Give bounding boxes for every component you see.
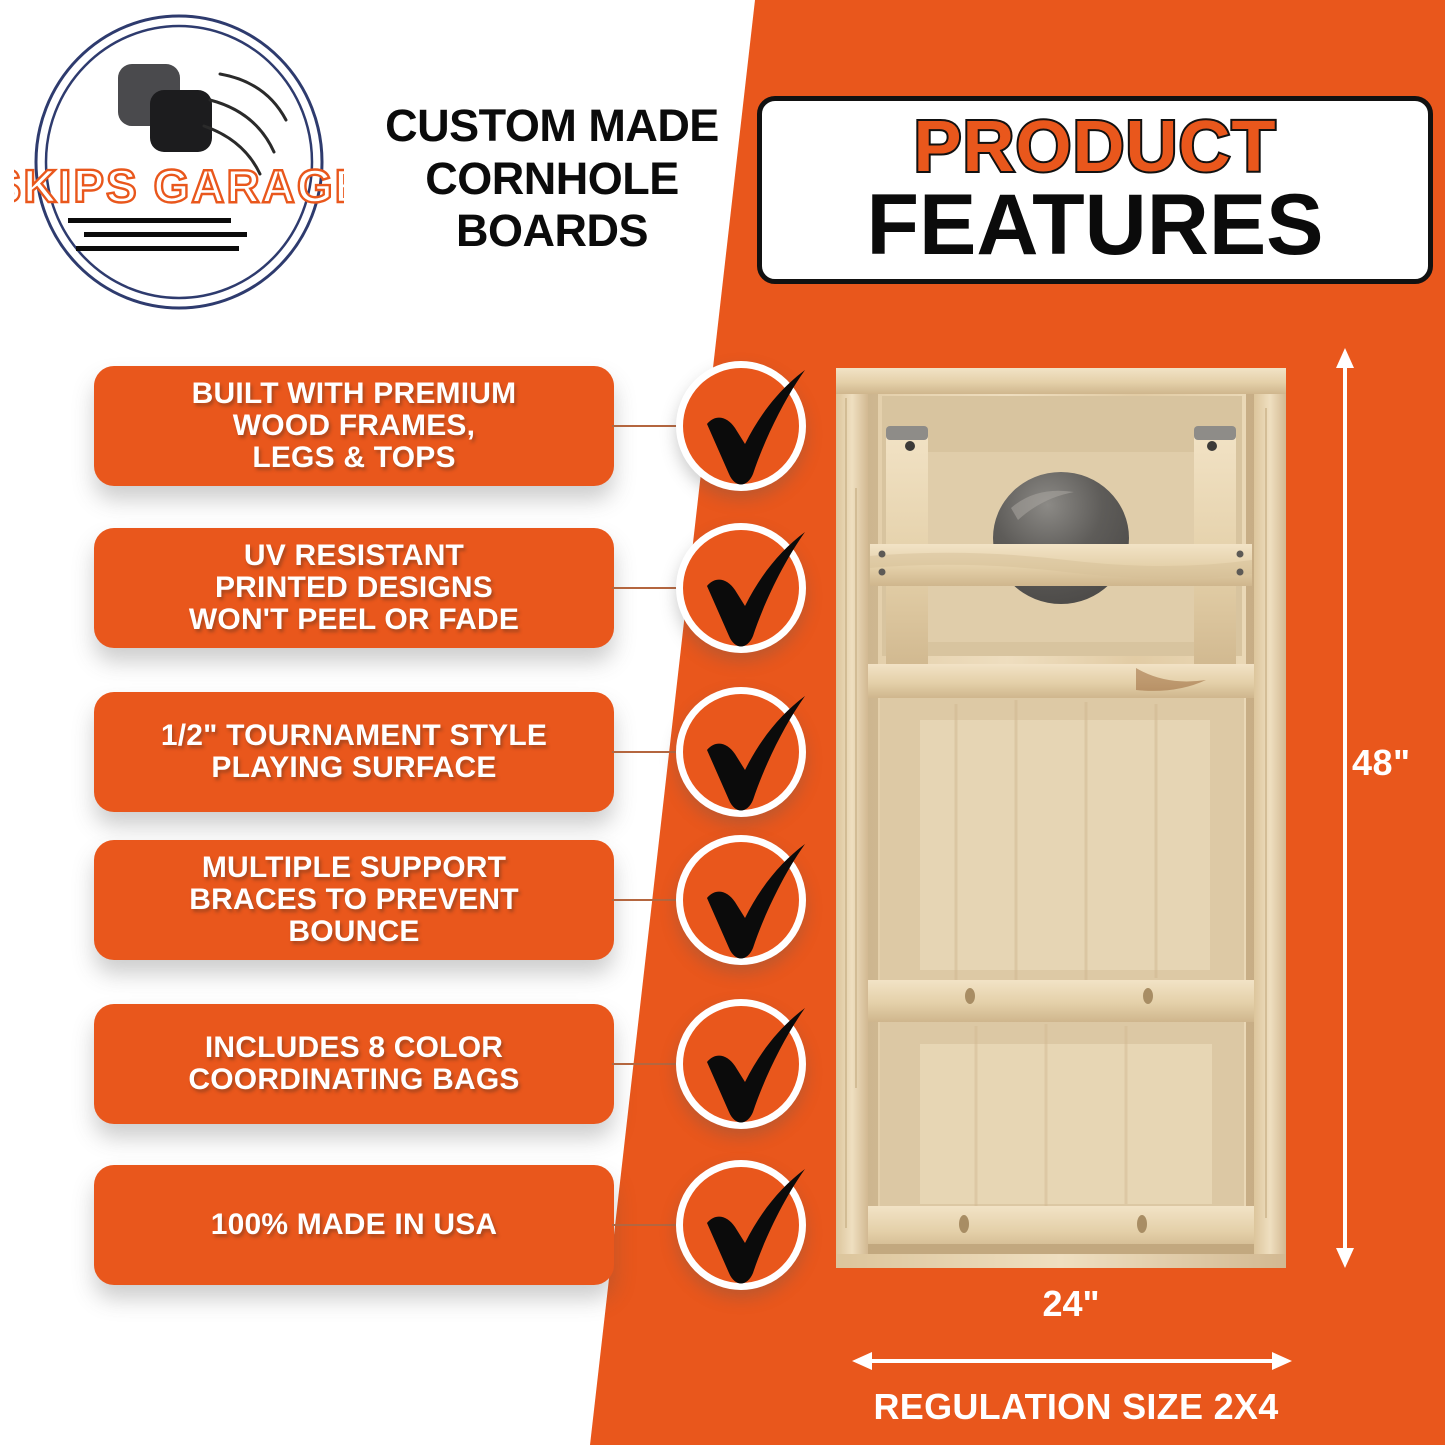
feature-check-badge [676,999,806,1129]
feature-label: INCLUDES 8 COLOR COORDINATING BAGS [188,1032,519,1096]
feature-label: BUILT WITH PREMIUM WOOD FRAMES, LEGS & T… [192,378,517,474]
brand-logo: SKIPS GARAGE [14,12,344,312]
feature-check-badge [676,687,806,817]
feature-pill: UV RESISTANT PRINTED DESIGNS WON'T PEEL … [94,528,614,648]
title-line-2: CORNHOLE [352,153,752,206]
checkmark-icon [669,672,829,832]
page-title: CUSTOM MADE CORNHOLE BOARDS [352,100,752,258]
checkmark-icon [669,1145,829,1305]
checkmark-icon [669,820,829,980]
feature-row-1: BUILT WITH PREMIUM WOOD FRAMES, LEGS & T… [0,366,830,486]
feature-label: 100% MADE IN USA [211,1209,498,1241]
feature-row-3: 1/2" TOURNAMENT STYLE PLAYING SURFACE [0,692,830,812]
feature-label: 1/2" TOURNAMENT STYLE PLAYING SURFACE [161,720,547,784]
feature-row-2: UV RESISTANT PRINTED DESIGNS WON'T PEEL … [0,528,830,648]
title-line-1: CUSTOM MADE [352,100,752,153]
feature-pill: MULTIPLE SUPPORT BRACES TO PREVENT BOUNC… [94,840,614,960]
feature-check-badge [676,361,806,491]
checkmark-icon [669,984,829,1144]
badge-line-product: PRODUCT [914,113,1277,181]
feature-check-badge [676,835,806,965]
feature-pill: INCLUDES 8 COLOR COORDINATING BAGS [94,1004,614,1124]
feature-pill: BUILT WITH PREMIUM WOOD FRAMES, LEGS & T… [94,366,614,486]
feature-row-5: INCLUDES 8 COLOR COORDINATING BAGS [0,1004,830,1124]
feature-label: MULTIPLE SUPPORT BRACES TO PREVENT BOUNC… [189,852,519,948]
logo-wordmark: SKIPS GARAGE [14,160,344,212]
product-photo [836,368,1286,1268]
feature-check-badge [676,523,806,653]
height-dimension-arrow [1330,348,1360,1268]
feature-label: UV RESISTANT PRINTED DESIGNS WON'T PEEL … [189,540,519,636]
infographic-canvas: SKIPS GARAGE CUSTOM MADE CORNHOLE BOARDS… [0,0,1445,1445]
product-features-badge: PRODUCT FEATURES [757,96,1433,284]
regulation-size-label: REGULATION SIZE 2X4 [806,1386,1346,1428]
feature-pill: 100% MADE IN USA [94,1165,614,1285]
title-line-3: BOARDS [352,205,752,258]
feature-pill: 1/2" TOURNAMENT STYLE PLAYING SURFACE [94,692,614,812]
width-dimension-arrow [852,1350,1292,1372]
checkmark-icon [669,346,829,506]
feature-row-4: MULTIPLE SUPPORT BRACES TO PREVENT BOUNC… [0,840,830,960]
width-dimension-label: 24" [856,1283,1286,1325]
badge-line-features: FEATURES [866,185,1323,267]
height-dimension-label: 48" [1352,742,1411,784]
checkmark-icon [669,508,829,668]
feature-check-badge [676,1160,806,1290]
feature-row-6: 100% MADE IN USA [0,1165,830,1285]
